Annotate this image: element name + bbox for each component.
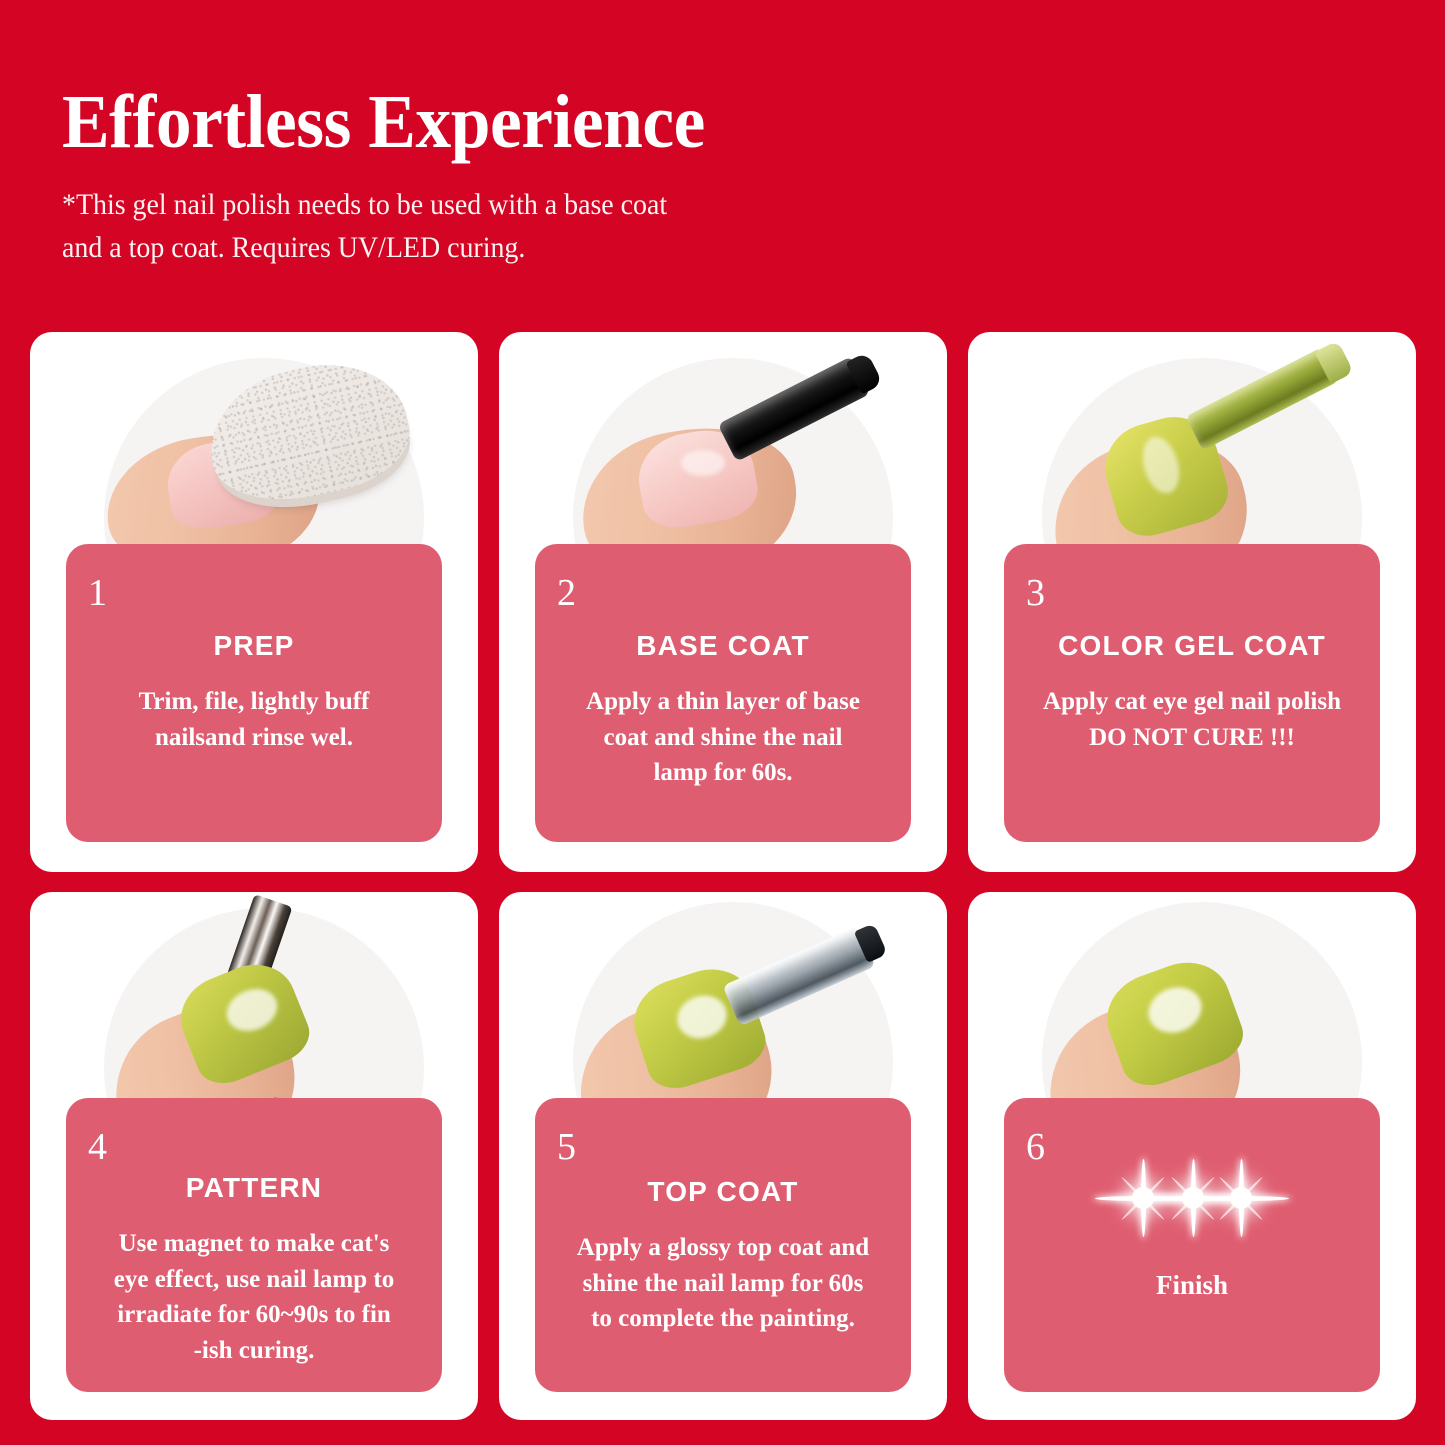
- finish-label: Finish: [1004, 1270, 1380, 1301]
- step-panel-3: 3 COLOR GEL COAT Apply cat eye gel nail …: [1004, 544, 1380, 842]
- step-description-2: Apply a thin layer of base coat and shin…: [555, 684, 891, 791]
- top-coat-brush: [722, 926, 875, 1026]
- nail-gloss-highlight: [681, 450, 725, 476]
- steps-grid: 1 PREP Trim, file, lightly buff nailsand…: [30, 332, 1416, 1420]
- step-number-2: 2: [557, 574, 576, 612]
- step-title-3: COLOR GEL COAT: [1024, 630, 1360, 662]
- step-panel-4: 4 PATTERN Use magnet to make cat's eye e…: [66, 1098, 442, 1392]
- step-card-4[interactable]: 4 PATTERN Use magnet to make cat's eye e…: [30, 892, 478, 1420]
- color-gel-brush: [1186, 348, 1339, 451]
- step-panel-5: 5 TOP COAT Apply a glossy top coat and s…: [535, 1098, 911, 1392]
- step-number-5: 5: [557, 1128, 576, 1166]
- step-number-1: 1: [88, 574, 107, 612]
- step-card-3[interactable]: 3 COLOR GEL COAT Apply cat eye gel nail …: [968, 332, 1416, 872]
- step-card-1[interactable]: 1 PREP Trim, file, lightly buff nailsand…: [30, 332, 478, 872]
- step-title-4: PATTERN: [86, 1172, 422, 1204]
- step-title-5: TOP COAT: [555, 1176, 891, 1208]
- page-header: Effortless Experience *This gel nail pol…: [0, 0, 1445, 269]
- step-title-1: PREP: [86, 630, 422, 662]
- sparkle-icon: [1193, 1150, 1289, 1246]
- page-title: Effortless Experience: [62, 88, 1362, 158]
- base-coat-brush: [718, 356, 871, 462]
- page-subtitle: *This gel nail polish needs to be used w…: [62, 184, 1348, 269]
- sparkle-group: [1087, 1160, 1297, 1236]
- step-panel-6: 6 Finish: [1004, 1098, 1380, 1392]
- step-number-3: 3: [1026, 574, 1045, 612]
- step-panel-1: 1 PREP Trim, file, lightly buff nailsand…: [66, 544, 442, 842]
- step-description-3: Apply cat eye gel nail polish DO NOT CUR…: [1024, 684, 1360, 755]
- step-description-1: Trim, file, lightly buff nailsand rinse …: [86, 684, 422, 755]
- step-card-2[interactable]: 2 BASE COAT Apply a thin layer of base c…: [499, 332, 947, 872]
- step-title-2: BASE COAT: [555, 630, 891, 662]
- step-description-4: Use magnet to make cat's eye effect, use…: [86, 1226, 422, 1368]
- step-panel-2: 2 BASE COAT Apply a thin layer of base c…: [535, 544, 911, 842]
- step-number-4: 4: [88, 1128, 107, 1166]
- step-description-5: Apply a glossy top coat and shine the na…: [555, 1230, 891, 1337]
- step-card-6[interactable]: 6 Finish: [968, 892, 1416, 1420]
- step-card-5[interactable]: 5 TOP COAT Apply a glossy top coat and s…: [499, 892, 947, 1420]
